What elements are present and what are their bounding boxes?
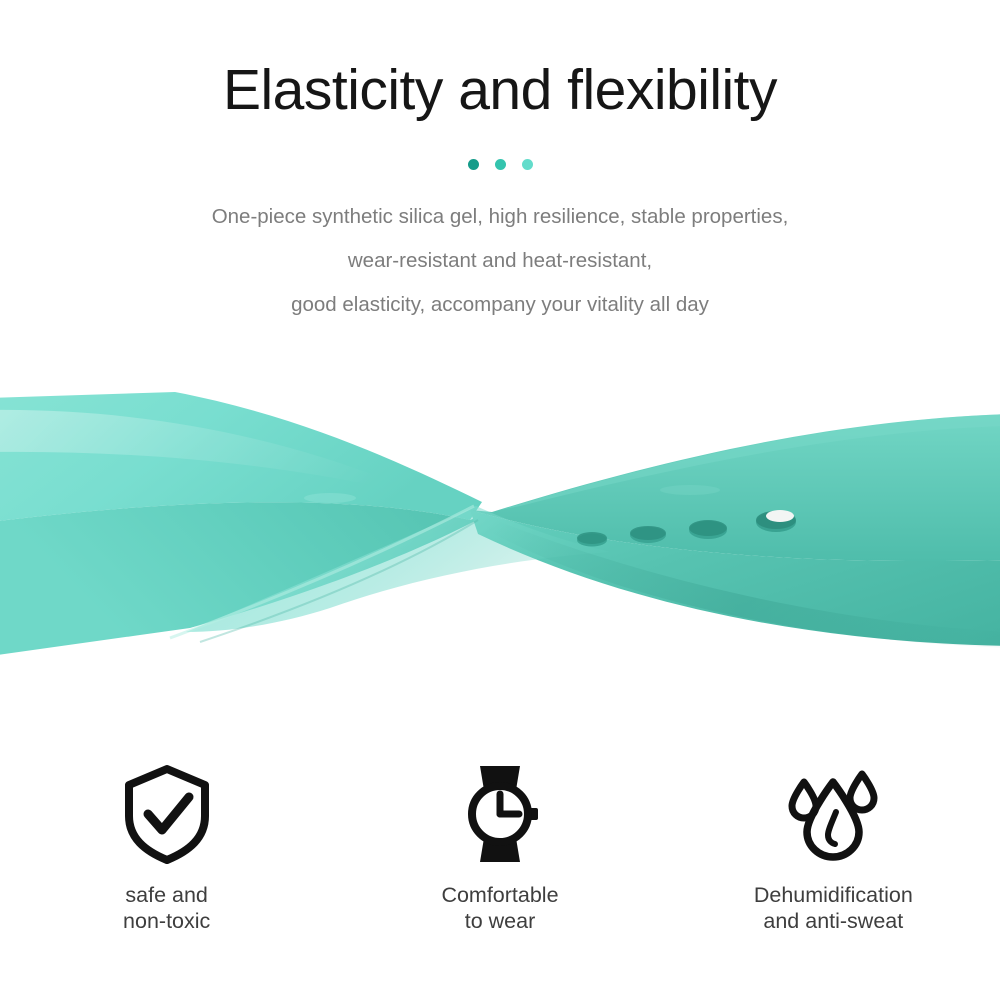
product-feature-page: Elasticity and flexibility One-piece syn…: [0, 0, 1000, 1000]
wristwatch-icon: [448, 762, 552, 866]
feature-caption-safe-non-toxic: safe and non-toxic: [123, 882, 210, 934]
subheading-line-3: good elasticity, accompany your vitality…: [0, 283, 1000, 327]
product-image-twisted-band: [0, 370, 1000, 690]
subheading-copy: One-piece synthetic silica gel, high res…: [0, 195, 1000, 327]
divider-dot-dark: [468, 159, 479, 170]
adjustment-hole-1-inner: [577, 532, 607, 544]
shield-check-glyph: [121, 764, 213, 864]
feature-caption-line-2: to wear: [441, 908, 558, 934]
shield-check-icon: [115, 762, 219, 866]
band-highlight-fleck-left: [304, 493, 356, 503]
feature-caption-line-1: safe and: [123, 882, 210, 908]
water-droplets-glyph: [783, 764, 883, 864]
divider-dot-medium: [495, 159, 506, 170]
page-title: Elasticity and flexibility: [0, 62, 1000, 119]
subheading-line-2: wear-resistant and heat-resistant,: [0, 239, 1000, 283]
adjustment-hole-2-inner: [630, 526, 666, 540]
band-illustration: [0, 370, 1000, 690]
band-highlight-fleck-right: [660, 485, 720, 495]
wristwatch-glyph: [457, 764, 543, 864]
feature-caption-line-2: non-toxic: [123, 908, 210, 934]
feature-item-dehumidification: Dehumidification and anti-sweat: [667, 762, 1000, 934]
subheading-line-1: One-piece synthetic silica gel, high res…: [0, 195, 1000, 239]
feature-caption-line-1: Dehumidification: [754, 882, 913, 908]
water-droplets-icon: [781, 762, 885, 866]
feature-caption-comfortable-to-wear: Comfortable to wear: [441, 882, 558, 934]
feature-item-comfortable-to-wear: Comfortable to wear: [333, 762, 666, 934]
adjustment-hole-3-inner: [689, 520, 727, 536]
adjustment-hole-5-through: [766, 510, 794, 522]
feature-caption-line-2: and anti-sweat: [754, 908, 913, 934]
feature-caption-line-1: Comfortable: [441, 882, 558, 908]
divider-dots: [0, 158, 1000, 170]
feature-item-safe-non-toxic: safe and non-toxic: [0, 762, 333, 934]
header-section: Elasticity and flexibility One-piece syn…: [0, 0, 1000, 327]
divider-dot-light: [522, 159, 533, 170]
feature-row: safe and non-toxic: [0, 762, 1000, 934]
feature-caption-dehumidification: Dehumidification and anti-sweat: [754, 882, 913, 934]
